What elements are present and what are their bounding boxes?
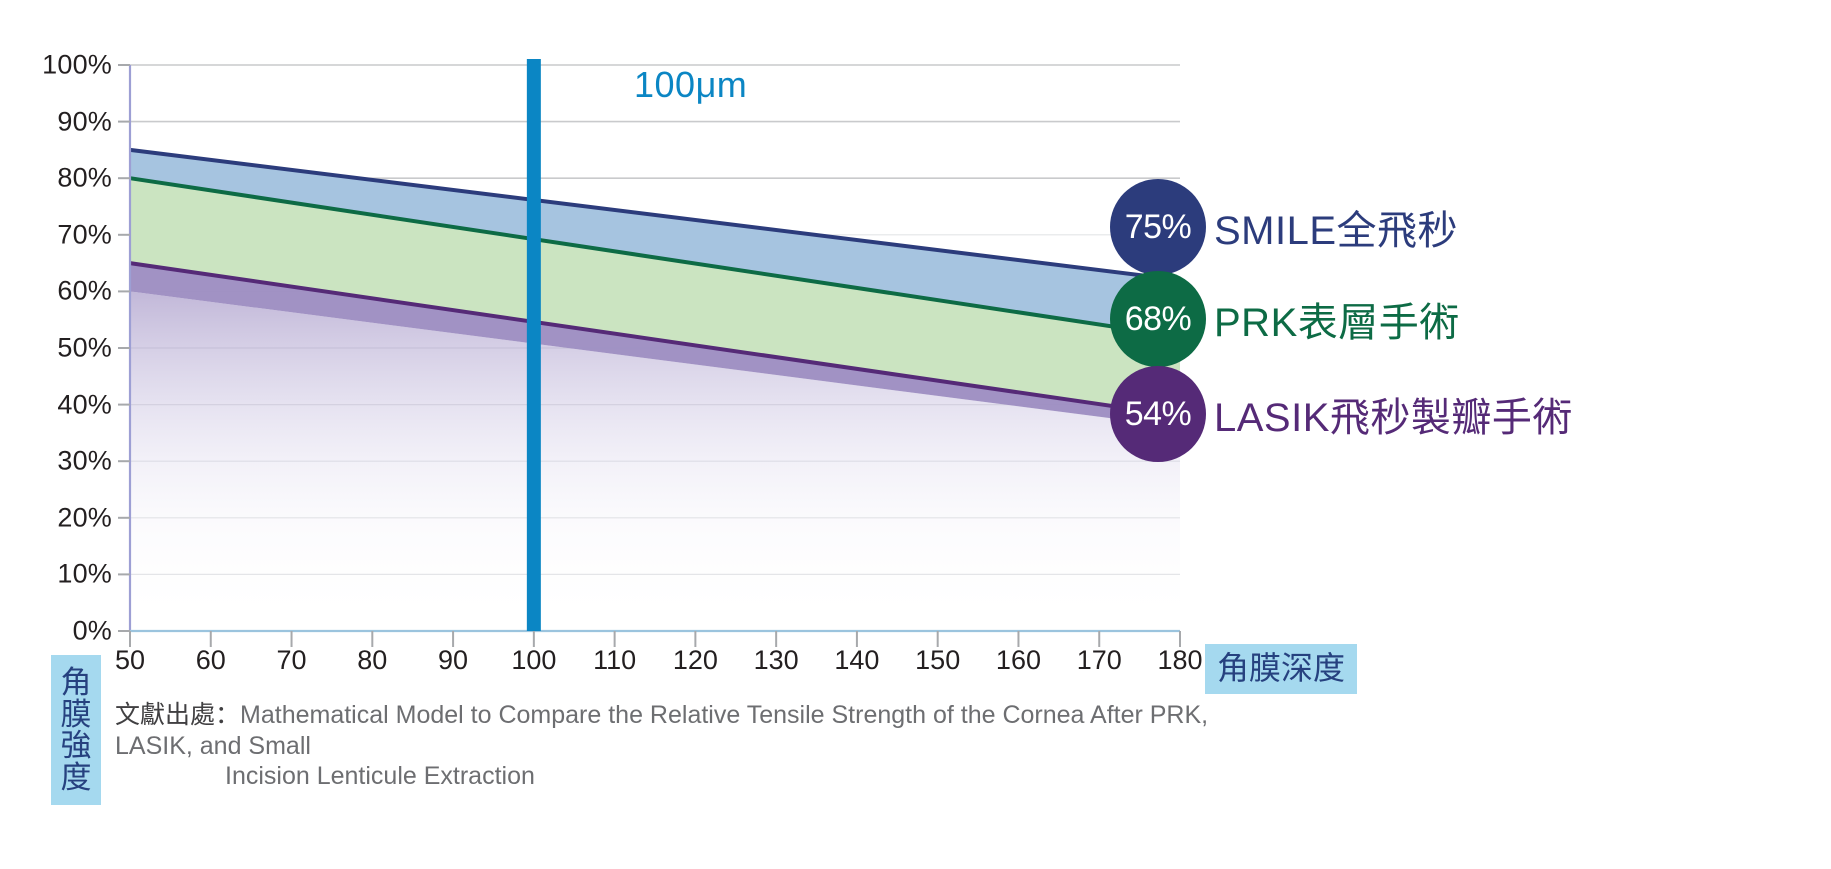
y-axis-tick-20: 20% — [20, 502, 112, 533]
y-axis-tick-80: 80% — [20, 163, 112, 194]
x-axis-tick-80: 80 — [332, 645, 412, 676]
source-note-heading: 文獻出處： — [115, 701, 240, 729]
x-axis-tick-160: 160 — [978, 645, 1058, 676]
x-axis-tick-120: 120 — [655, 645, 735, 676]
legend-bubble-smile[interactable]: 75% — [1110, 179, 1206, 275]
chart-svg — [130, 65, 1180, 631]
x-axis-tick-140: 140 — [817, 645, 897, 676]
y-axis-title-char-2: 膜 — [54, 699, 98, 731]
legend-bubble-lasik[interactable]: 54% — [1110, 366, 1206, 462]
y-axis-ticks — [118, 65, 130, 631]
y-axis-title-char-4: 度 — [54, 762, 98, 794]
depth-marker-100um — [527, 59, 541, 631]
source-note: 文獻出處：Mathematical Model to Compare the R… — [115, 700, 1235, 792]
y-axis-tick-labels: 100%90%80%70%60%50%40%30%20%10%0% — [20, 65, 112, 631]
x-axis-tick-130: 130 — [736, 645, 816, 676]
y-axis-tick-90: 90% — [20, 106, 112, 137]
chart-canvas: 100%90%80%70%60%50%40%30%20%10%0% — [0, 0, 1831, 869]
plot-area — [130, 65, 1180, 631]
legend-label-prk: PRK表層手術 — [1214, 290, 1460, 348]
x-axis-tick-110: 110 — [575, 645, 655, 676]
x-axis-title-badge: 角膜深度 — [1205, 644, 1357, 694]
x-axis-tick-70: 70 — [252, 645, 332, 676]
x-axis-tick-90: 90 — [413, 645, 493, 676]
source-note-line2: Incision Lenticule Extraction — [115, 761, 1235, 792]
x-axis-tick-150: 150 — [898, 645, 978, 676]
y-axis-title-char-1: 角 — [54, 667, 98, 699]
source-note-line1: Mathematical Model to Compare the Relati… — [115, 701, 1208, 760]
y-axis-tick-30: 30% — [20, 446, 112, 477]
legend-label-smile: SMILE全飛秒 — [1214, 198, 1458, 256]
marker-label-100um: 100μm — [634, 64, 747, 106]
y-axis-title-badge: 角 膜 強 度 — [51, 655, 101, 805]
y-axis-tick-40: 40% — [20, 389, 112, 420]
y-axis-title-char-3: 強 — [54, 730, 98, 762]
y-axis-tick-10: 10% — [20, 559, 112, 590]
y-axis-tick-50: 50% — [20, 333, 112, 364]
y-axis-tick-0: 0% — [20, 616, 112, 647]
x-axis-tick-labels: 5060708090100110120130140150160170180 — [130, 645, 1180, 685]
legend-bubble-prk[interactable]: 68% — [1110, 271, 1206, 367]
y-axis-tick-70: 70% — [20, 219, 112, 250]
legend-label-lasik: LASIK飛秒製瓣手術 — [1214, 385, 1573, 443]
y-axis-tick-60: 60% — [20, 276, 112, 307]
x-axis-tick-170: 170 — [1059, 645, 1139, 676]
y-axis-tick-100: 100% — [20, 50, 112, 81]
x-axis-tick-100: 100 — [494, 645, 574, 676]
x-axis-tick-60: 60 — [171, 645, 251, 676]
x-axis-tick-50: 50 — [90, 645, 170, 676]
